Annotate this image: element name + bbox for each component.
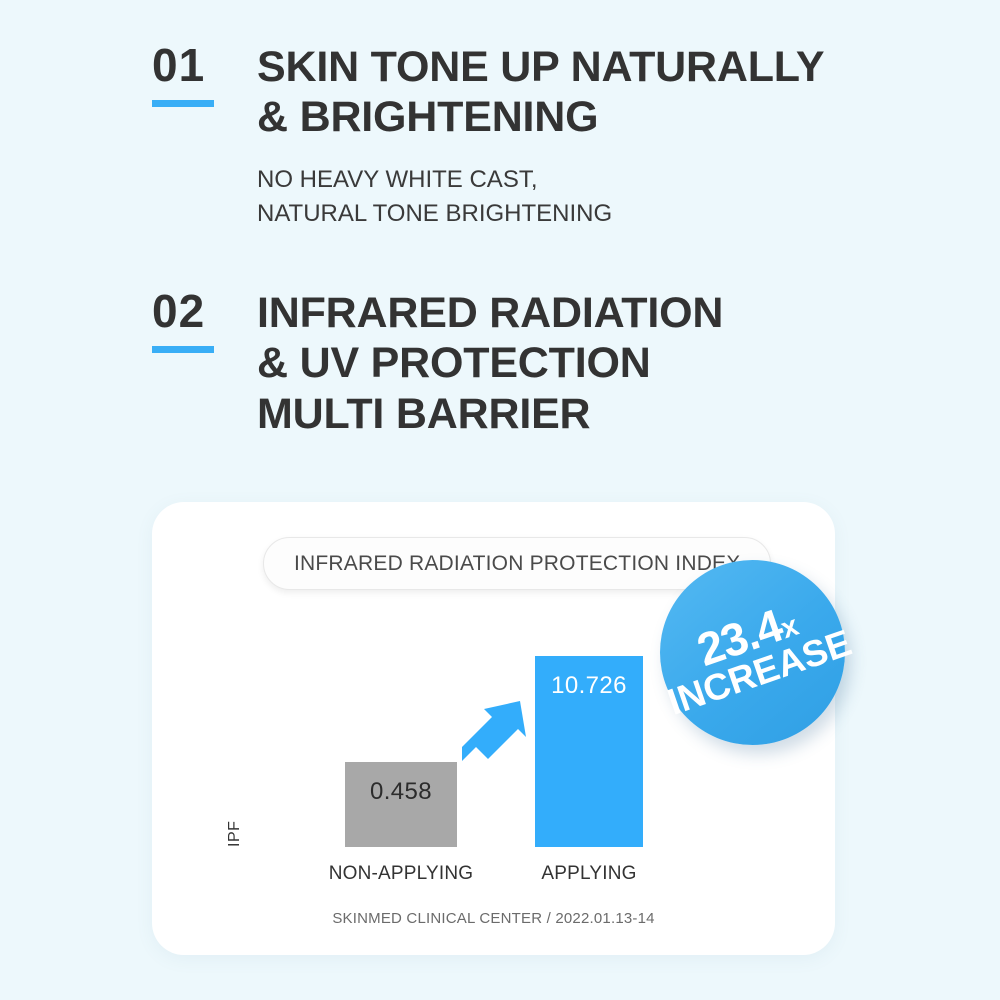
feature-accent-rule [152,100,214,107]
feature-text-group: SKIN TONE UP NATURALLY & BRIGHTENING NO … [257,42,942,231]
feature-accent-rule [152,346,214,353]
feature-number: 02 [152,288,205,334]
increase-badge: 23.4x INCREASE [660,560,845,745]
chart-card: INFRARED RADIATION PROTECTION INDEX 23.4… [152,502,835,955]
arrow-up-right-icon [454,687,536,769]
y-axis-label: IPF [226,821,244,847]
bar-non-applying: 0.458 [345,762,457,847]
feature-title: INFRARED RADIATION & UV PROTECTION MULTI… [257,288,942,439]
feature-number: 01 [152,42,205,88]
feature-text-group: INFRARED RADIATION & UV PROTECTION MULTI… [257,288,942,439]
feature-number-wrap: 01 [152,42,257,107]
increase-badge-inner: 23.4x INCREASE [649,584,855,720]
feature-block-02: 02 INFRARED RADIATION & UV PROTECTION MU… [152,288,942,439]
category-label-non-applying: NON-APPLYING [315,863,487,885]
chart-source-footnote: SKINMED CLINICAL CENTER / 2022.01.13-14 [152,910,835,927]
bar-value-non-applying: 0.458 [345,778,457,806]
feature-number-wrap: 02 [152,288,257,353]
bar-value-applying: 10.726 [535,672,643,700]
chart-title-label: INFRARED RADIATION PROTECTION INDEX [294,552,740,576]
feature-block-01: 01 SKIN TONE UP NATURALLY & BRIGHTENING … [152,42,942,231]
feature-subtitle: NO HEAVY WHITE CAST, NATURAL TONE BRIGHT… [257,163,942,231]
category-label-applying: APPLYING [499,863,679,885]
bar-applying: 10.726 [535,656,643,847]
feature-title: SKIN TONE UP NATURALLY & BRIGHTENING [257,42,942,143]
